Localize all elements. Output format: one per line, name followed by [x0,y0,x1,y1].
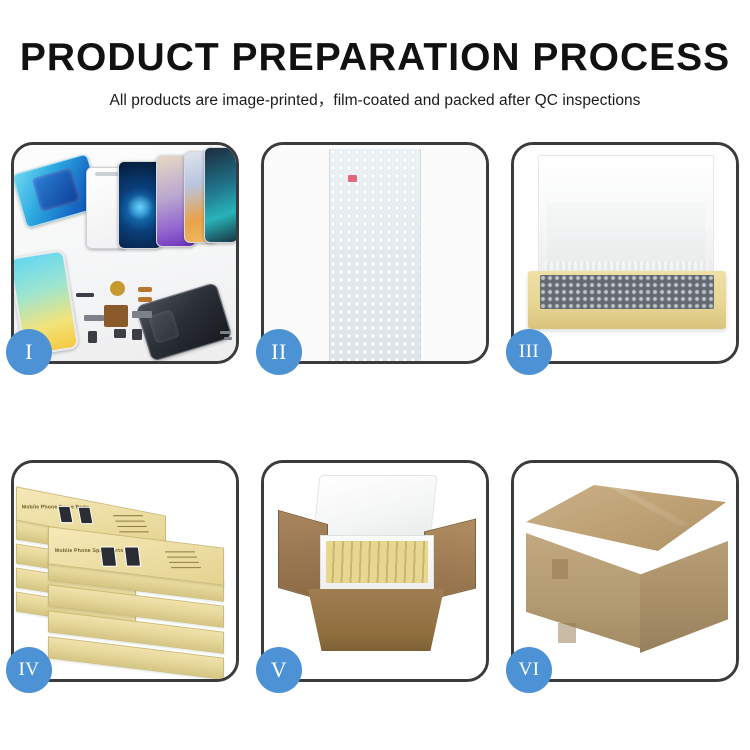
packed-boxes-icon [326,541,428,583]
box-window-screen-icon [100,547,117,567]
box-spec-line [167,557,197,558]
tape-label-icon [348,175,357,182]
box-spec-line [117,526,147,527]
product-preparation-infographic: PRODUCT PREPARATION PROCESS All products… [0,0,750,750]
chip-array-icon [104,305,128,327]
box-stack-icon: Mobile Phone Spare Parts Mobile Phon [16,477,236,673]
teal-phone-screen-icon [204,147,236,243]
flex-cable-icon [138,297,152,302]
step-badge-2: II [256,329,302,375]
bubble-wrapped-contents-icon [540,275,714,309]
speaker-part-icon [76,293,94,297]
step-4-image: Mobile Phone Spare Parts Mobile Phon [14,463,236,679]
box-spec-line [115,521,145,522]
flex-cable-icon [138,287,152,292]
foam-lid-icon [538,155,714,273]
step-badge-3: III [506,329,552,375]
step-6-image [514,463,736,679]
process-step-1[interactable]: I [11,142,239,364]
button-part-icon [114,329,126,338]
carton-tape-patch-icon [558,623,576,643]
camera-module-icon [88,331,97,343]
box-window-screen-icon [77,507,93,524]
box-spec-line [113,515,143,516]
page-subtitle: All products are image-printed，film-coat… [0,88,750,110]
screw-icon [224,337,232,340]
step-3-image [514,145,736,361]
step-badge-5: V [256,647,302,693]
step-2-image [264,145,486,361]
battery-connector-icon [132,329,142,340]
step-badge-1: I [6,329,52,375]
process-step-4[interactable]: Mobile Phone Spare Parts Mobile Phon [11,460,239,682]
step-badge-6: VI [506,647,552,693]
box-window-screen-icon [124,546,141,566]
step-5-image [264,463,486,679]
step-badge-4: IV [6,647,52,693]
process-step-6[interactable]: VI [511,460,739,682]
process-step-5[interactable]: V [261,460,489,682]
header: PRODUCT PREPARATION PROCESS All products… [0,0,750,110]
carton-tape-patch-icon [552,559,568,579]
box-spec-line [165,551,195,552]
carton-side-face-icon [640,541,728,653]
step-1-image [14,145,236,361]
carton-body-icon [308,589,444,651]
page-title: PRODUCT PREPARATION PROCESS [0,38,750,79]
carton-front-face-icon [526,533,642,649]
screw-icon [220,331,230,334]
vibrator-coil-icon [110,281,125,296]
process-step-2[interactable]: II [261,142,489,364]
process-step-grid: I II III [11,142,739,682]
bracket-part-icon [84,315,104,321]
box-spec-line [119,531,149,532]
process-step-3[interactable]: III [511,142,739,364]
bubble-wrap-icon [329,149,421,361]
foam-lid-icon [313,475,438,541]
phone-back-housing-icon [135,282,232,361]
connector-part-icon [132,311,152,318]
box-spec-line [171,567,201,568]
box-spec-line [169,562,199,563]
